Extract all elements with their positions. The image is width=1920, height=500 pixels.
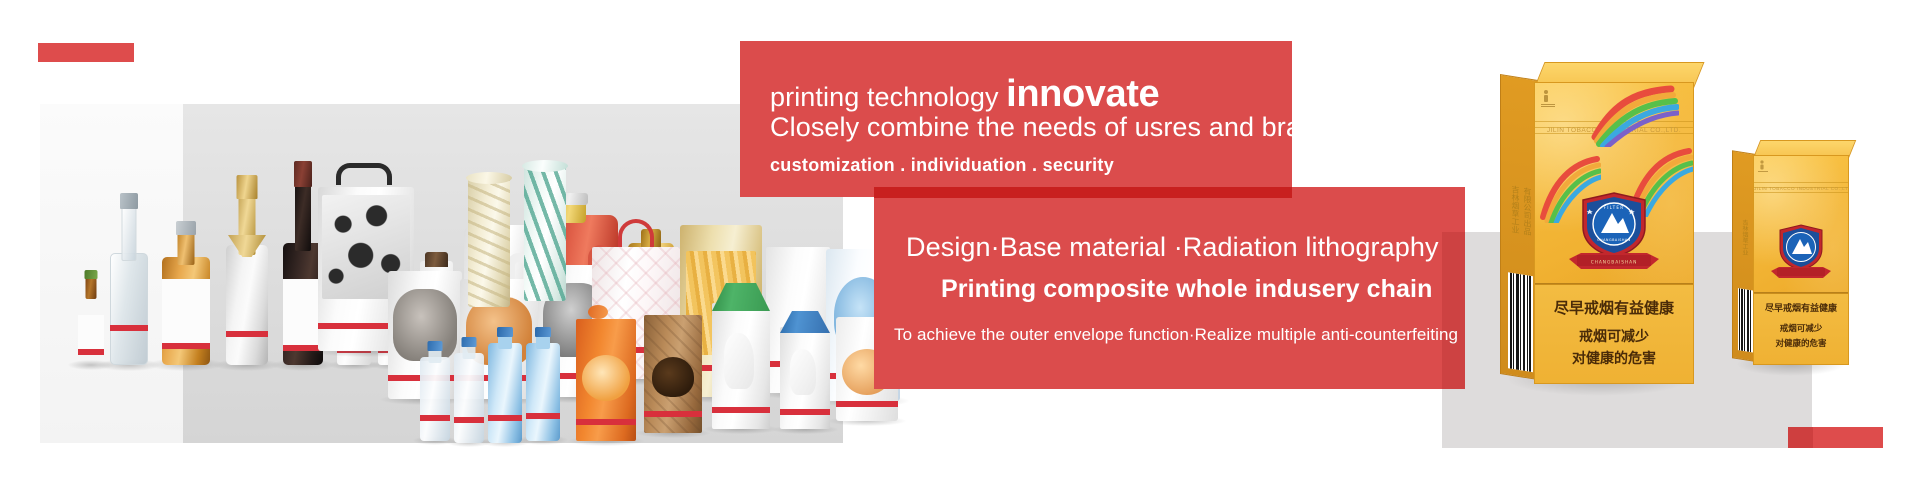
pack-large-barcode xyxy=(1508,272,1533,372)
pack-large-side-face: 吉林烟草工业 有限公司出品 xyxy=(1500,74,1538,380)
pack-small-warning-band: 尽早戒烟有益健康 戒烟可减少 对健康的危害 xyxy=(1754,293,1848,365)
svg-text:CHANGBAISHAN: CHANGBAISHAN xyxy=(1591,260,1638,266)
cigarette-pack-small: 吉林烟草工业 JILIN xyxy=(1732,140,1852,370)
pack-large-rainbow-swoosh-top xyxy=(1587,85,1679,147)
pack-small-warning-line-3: 对健康的危害 xyxy=(1754,339,1848,350)
pack-small-side-text-1: 吉林烟草工业 xyxy=(1740,218,1749,291)
pack-large-warning-line-2: 戒烟可减少 xyxy=(1535,329,1693,347)
tagline-text: Printing composite whole indusery chain xyxy=(941,275,1432,304)
pack-large-warning-line-1: 尽早戒烟有益健康 xyxy=(1535,299,1693,318)
product-juice-carton-orange xyxy=(576,315,636,441)
product-water-bottle-clear-a xyxy=(420,339,450,441)
pack-large-ribbon-banner: CHANGBAISHAN xyxy=(1567,249,1661,275)
pack-small-brand-line: JILIN TOBACCO INDUSTRIAL CO.,LTD. xyxy=(1754,186,1848,191)
svg-text:CHANGBAISHAN: CHANGBAISHAN xyxy=(1597,238,1631,242)
packaging-product-montage-secondary xyxy=(120,104,843,443)
pack-large-warning-band: 尽早戒烟有益健康 戒烟可减少 对健康的危害 xyxy=(1535,284,1693,384)
product-water-bottle-clear-b xyxy=(454,333,484,443)
pack-small-barcode xyxy=(1738,288,1753,352)
pack-small-warning-line-2: 戒烟可减少 xyxy=(1754,324,1848,335)
svg-text:FILTER: FILTER xyxy=(1604,205,1625,210)
services-text: Design·Base material ·Radiation lithogra… xyxy=(906,232,1439,263)
promo-banner: 吉林烟草工业 有限公司出品 xyxy=(0,0,1920,500)
product-coffee-box xyxy=(644,311,702,433)
product-wallpaper-roll-green xyxy=(524,165,566,301)
panel-overlap-strip xyxy=(874,187,1292,198)
product-beer-bottle xyxy=(78,267,104,365)
pack-large-warning-line-3: 对健康的危害 xyxy=(1535,351,1693,369)
headline-strong-word: innovate xyxy=(1006,73,1159,115)
pack-small-warning-line-1: 尽早戒烟有益健康 xyxy=(1754,304,1848,315)
product-water-bottle-blue-a xyxy=(488,323,522,443)
subheadline-text: Closely combine the needs of usres and b… xyxy=(770,112,1345,143)
keywords-text: customization . individuation . security xyxy=(770,155,1114,176)
pack-small-ribbon-banner xyxy=(1770,264,1832,281)
accent-bar-top-left xyxy=(38,43,134,62)
pack-large-front-face: JILIN TOBACCO INDUSTRIAL CO.,LTD. xyxy=(1534,82,1694,384)
headline-prefix: printing technology xyxy=(770,82,1006,112)
benefits-text: To achieve the outer envelope function·R… xyxy=(894,325,1458,345)
product-milk-carton-blue xyxy=(780,311,830,429)
services-panel-shade xyxy=(1442,232,1465,389)
pack-large-pictogram-icon xyxy=(1541,89,1555,107)
product-milk-carton-green xyxy=(712,283,770,429)
accent-bar-bottom-right-shade xyxy=(1788,427,1813,448)
product-wallpaper-roll-cream xyxy=(468,177,510,307)
pack-small-pictogram-icon xyxy=(1758,160,1768,173)
headline-text: printing technology innovate xyxy=(770,73,1159,116)
cigarette-pack-large: 吉林烟草工业 有限公司出品 xyxy=(1500,62,1700,392)
pack-small-front-face: JILIN TOBACCO INDUSTRIAL CO.,LTD. xyxy=(1753,155,1849,365)
product-water-bottle-blue-b xyxy=(526,323,560,441)
